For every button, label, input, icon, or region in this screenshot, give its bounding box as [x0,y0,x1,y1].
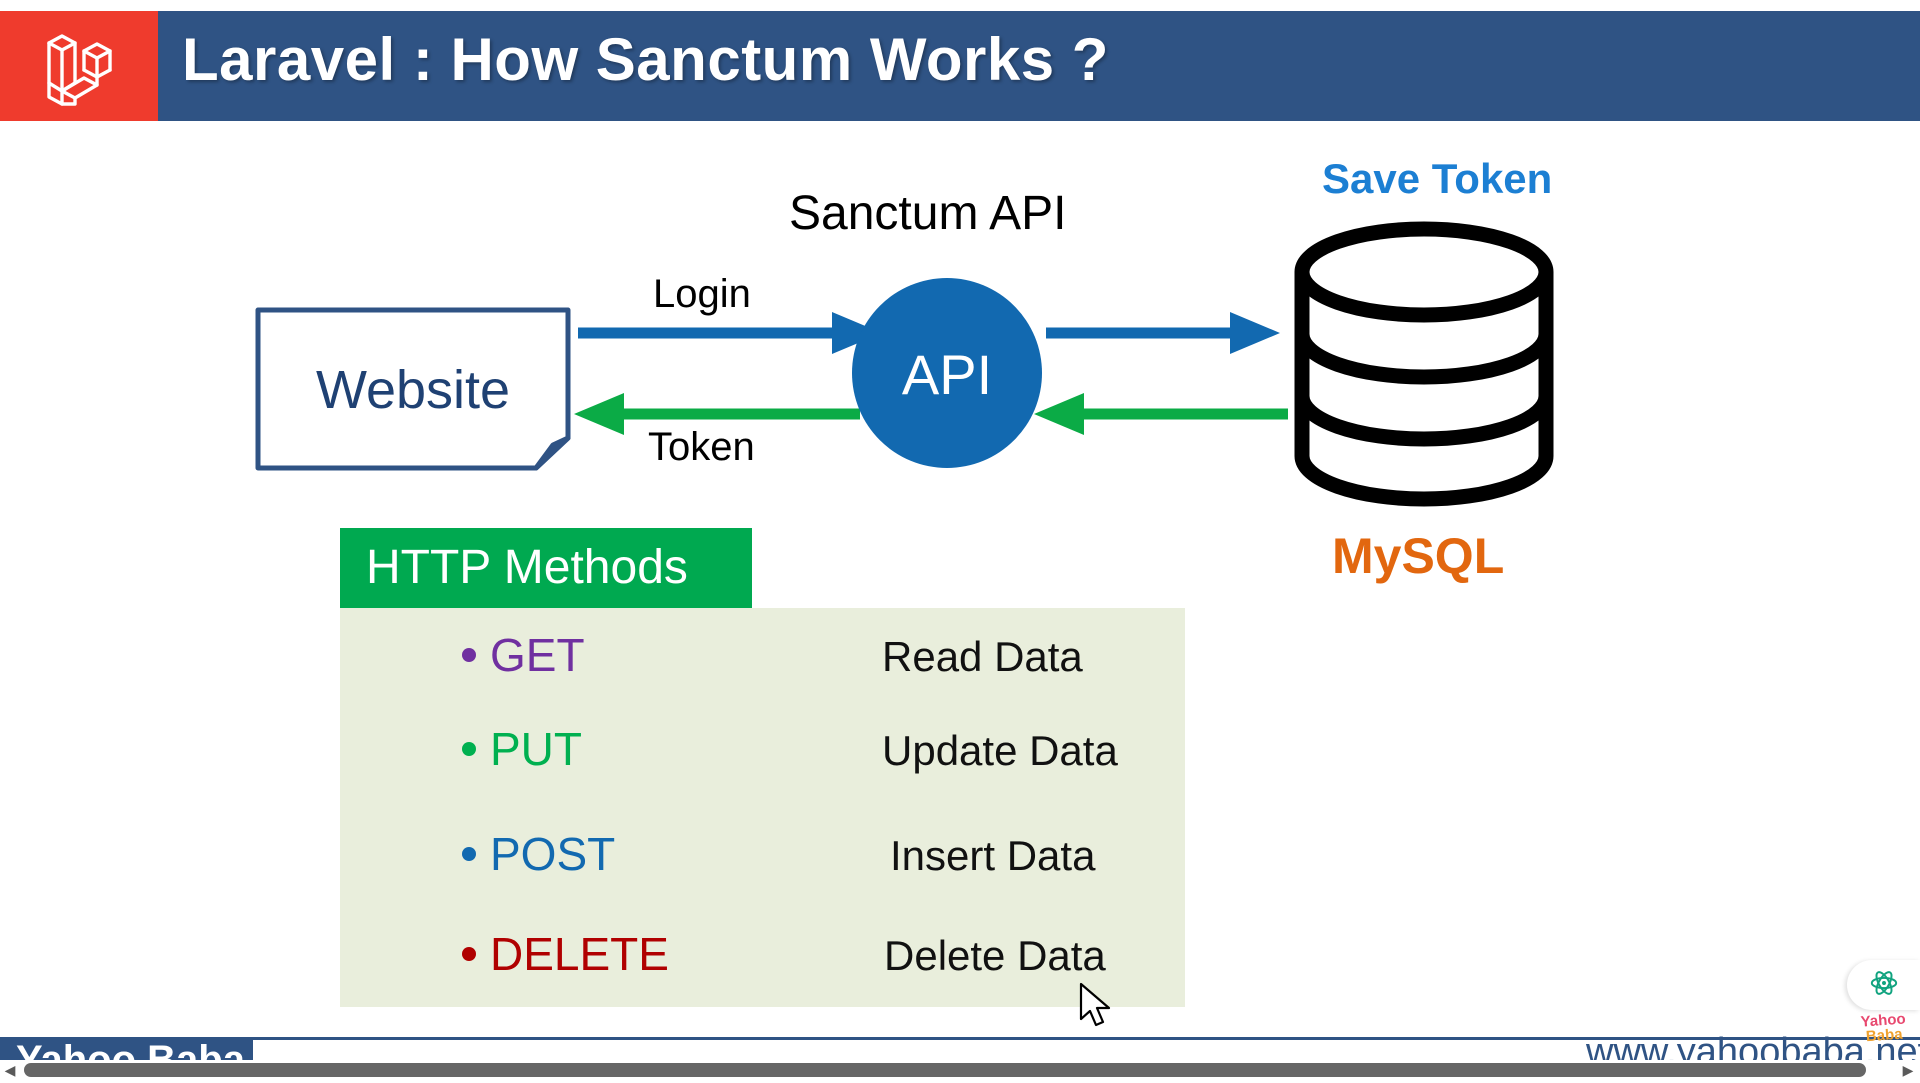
sanctum-api-title: Sanctum API [789,186,1066,241]
http-methods-banner: HTTP Methods [340,528,752,608]
http-methods-banner-label: HTTP Methods [366,540,688,595]
login-arrow-label: Login [653,272,751,317]
method-row-delete: DELETE Delete Data [340,919,1185,989]
method-name-post: POST [490,827,615,881]
database-to-api-arrow [1034,393,1288,435]
http-methods-panel: GET Read Data PUT Update Data POST Inser… [340,608,1185,1007]
bullet-icon [462,742,476,756]
token-arrow-label: Token [648,425,755,470]
method-desc-put: Update Data [882,727,1118,775]
method-desc-get: Read Data [882,633,1083,681]
bullet-icon [462,648,476,662]
method-row-get: GET Read Data [340,620,1185,690]
website-box-label: Website [258,310,568,470]
ai-assistant-badge[interactable] [1847,960,1920,1010]
method-row-post: POST Insert Data [340,819,1185,889]
method-desc-post: Insert Data [890,832,1095,880]
footer-watermark-logo: Yahoo Baba [1854,1011,1915,1055]
method-name-put: PUT [490,722,582,776]
method-row-put: PUT Update Data [340,714,1185,784]
mouse-pointer-icon [1079,982,1113,1035]
method-name-delete: DELETE [490,927,669,981]
slide-canvas: Laravel : How Sanctum Works ? [0,0,1920,1080]
page-title: Laravel : How Sanctum Works ? [182,25,1109,94]
chevron-right-icon[interactable]: ▶ [1900,1062,1916,1078]
scrollbar-thumb[interactable] [24,1063,1866,1077]
laravel-logo-tile [0,11,158,121]
method-desc-delete: Delete Data [884,932,1106,980]
method-name-get: GET [490,628,585,682]
bullet-icon [462,847,476,861]
bullet-icon [462,947,476,961]
horizontal-scrollbar[interactable]: ◀ ▶ [0,1060,1920,1080]
mysql-label: MySQL [1332,527,1504,585]
login-arrow [578,312,882,354]
api-node-label: API [852,335,1042,413]
ai-assistant-icon[interactable] [1869,968,1899,1003]
chevron-left-icon[interactable]: ◀ [2,1062,18,1078]
api-to-database-arrow [1046,312,1280,354]
save-token-label: Save Token [1322,155,1552,203]
database-cylinder-icon [1302,229,1546,499]
